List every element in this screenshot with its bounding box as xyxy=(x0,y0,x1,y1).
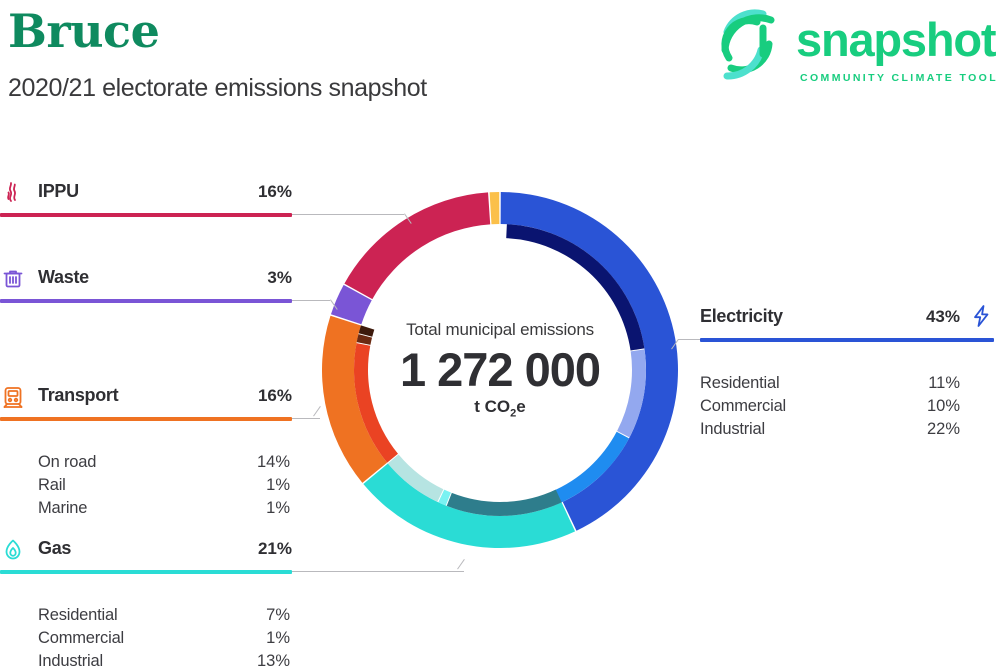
subitem-name: Rail xyxy=(38,476,66,495)
legend-subitem-transport-2: Marine1% xyxy=(0,499,292,522)
legend-percent-gas: 21% xyxy=(258,539,292,559)
legend-percent-waste: 3% xyxy=(267,268,292,288)
snapshot-swirl-icon xyxy=(713,6,785,86)
legend-group-transport[interactable]: Transport16%On road14%Rail1%Marine1% xyxy=(0,384,292,483)
legend-name-waste: Waste xyxy=(38,267,89,288)
page-subtitle: 2020/21 electorate emissions snapshot xyxy=(8,74,427,103)
legend-bar-ippu xyxy=(0,213,292,217)
smoke-icon xyxy=(0,180,26,206)
legend-subitem-gas-2: Industrial13% xyxy=(0,652,292,670)
emissions-snapshot-page: Bruce 2020/21 electorate emissions snaps… xyxy=(0,0,1000,670)
subitem-name: On road xyxy=(38,453,96,472)
subitem-value: 14% xyxy=(220,453,290,472)
legend-group-gas[interactable]: Gas21%Residential7%Commercial1%Industria… xyxy=(0,537,292,636)
donut-center-value: 1 272 000 xyxy=(322,342,678,397)
donut-outer-ippu[interactable] xyxy=(344,192,490,299)
legend-subitem-gas-1: Commercial1% xyxy=(0,629,292,652)
legend-name-gas: Gas xyxy=(38,538,71,559)
legend-percent-ippu: 16% xyxy=(258,182,292,202)
legend-name-transport: Transport xyxy=(38,385,118,406)
donut-center-label: Total municipal emissions xyxy=(322,320,678,340)
subitem-value: 1% xyxy=(220,499,290,518)
train-icon xyxy=(0,384,26,410)
legend-bar-electricity xyxy=(700,338,994,342)
legend-bar-transport xyxy=(0,417,292,421)
legend-percent-electricity: 43% xyxy=(926,307,960,327)
legend-group-ippu[interactable]: IPPU16% xyxy=(0,180,292,210)
legend-name-electricity: Electricity xyxy=(700,306,783,327)
leader-gas-hook xyxy=(457,559,474,576)
legend-subitem-electricity-1: Commercial10% xyxy=(700,397,994,420)
emissions-donut-chart: Total municipal emissions 1 272 000 t CO… xyxy=(322,192,678,548)
subitem-name: Industrial xyxy=(700,420,765,439)
brand-wordmark: snapshot xyxy=(796,12,995,67)
subitem-value: 1% xyxy=(220,629,290,648)
subitem-name: Residential xyxy=(700,374,779,393)
trash-icon xyxy=(0,266,26,292)
subitem-value: 10% xyxy=(890,397,960,416)
leader-waste xyxy=(292,300,330,301)
donut-outer-other[interactable] xyxy=(490,192,500,224)
legend-name-ippu: IPPU xyxy=(38,181,79,202)
unit-suffix: e xyxy=(516,397,525,416)
legend-header-ippu[interactable]: IPPU16% xyxy=(0,180,292,210)
legend-group-electricity[interactable]: Electricity43%Residential11%Commercial10… xyxy=(700,305,994,404)
subitem-name: Residential xyxy=(38,606,117,625)
unit-prefix: t CO xyxy=(474,397,510,416)
legend-subitem-electricity-0: Residential11% xyxy=(700,374,994,397)
subitem-value: 13% xyxy=(220,652,290,670)
subitem-name: Commercial xyxy=(38,629,124,648)
page-title: Bruce xyxy=(8,8,159,54)
legend-bar-waste xyxy=(0,299,292,303)
legend-bar-gas xyxy=(0,570,292,574)
legend-header-waste[interactable]: Waste3% xyxy=(0,266,292,296)
brand-logo: snapshot COMMUNITY CLIMATE TOOL xyxy=(708,4,998,96)
legend-header-electricity[interactable]: Electricity43% xyxy=(700,305,994,335)
legend-subitem-electricity-2: Industrial22% xyxy=(700,420,994,443)
leader-ippu xyxy=(292,214,404,215)
brand-tagline: COMMUNITY CLIMATE TOOL xyxy=(800,72,998,84)
subitem-name: Industrial xyxy=(38,652,103,670)
flame-icon xyxy=(0,537,26,563)
legend-header-transport[interactable]: Transport16% xyxy=(0,384,292,414)
legend-group-waste[interactable]: Waste3% xyxy=(0,266,292,296)
leader-gas xyxy=(292,571,464,572)
lightning-icon xyxy=(968,303,994,329)
subitem-value: 1% xyxy=(220,476,290,495)
subitem-value: 7% xyxy=(220,606,290,625)
subitem-value: 22% xyxy=(890,420,960,439)
subitem-name: Commercial xyxy=(700,397,786,416)
subitem-name: Marine xyxy=(38,499,87,518)
legend-header-gas[interactable]: Gas21% xyxy=(0,537,292,567)
legend-subitem-gas-0: Residential7% xyxy=(0,606,292,629)
leader-electricity xyxy=(678,339,702,340)
legend-percent-transport: 16% xyxy=(258,386,292,406)
legend-subitem-transport-0: On road14% xyxy=(0,453,292,476)
subitem-value: 11% xyxy=(890,374,960,393)
donut-center-unit: t CO2e xyxy=(322,397,678,419)
legend-subitem-transport-1: Rail1% xyxy=(0,476,292,499)
